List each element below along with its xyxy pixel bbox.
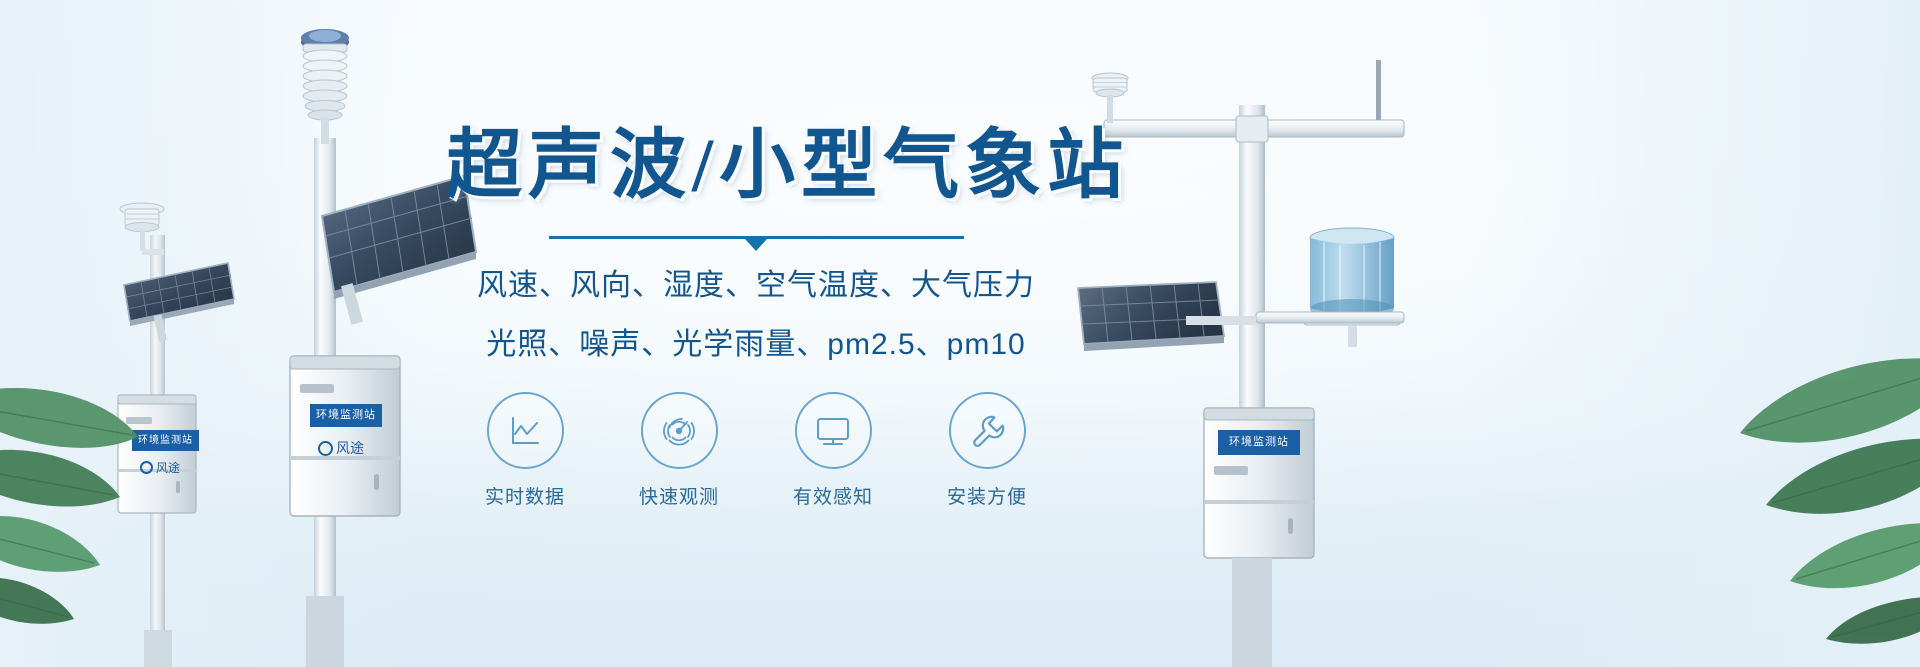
cabinet-label-right: 环境监测站 [1218,430,1300,455]
feature-item-realtime-data[interactable]: 实时数据 [470,392,580,509]
feature-list: 实时数据 快速 [446,392,1066,509]
radar-signal-icon [659,411,699,451]
cabinet-label-center-left: 环境监测站 [310,404,382,427]
feature-label: 快速观测 [624,482,734,509]
page-title: 超声波/小型气象站 [446,118,1066,214]
feature-icon-circle [641,392,718,469]
leaf-decoration-right [1600,347,1920,647]
feature-icon-circle [487,392,564,469]
feature-label: 安装方便 [932,482,1042,509]
leaf-decoration-left [0,367,220,627]
feature-item-effective-sensing[interactable]: 有效感知 [778,392,888,509]
product-banner: 环境监测站 风途 [0,0,1920,667]
feature-icon-circle [949,392,1026,469]
subtitle-line-2: 光照、噪声、光学雨量、pm2.5、pm10 [446,321,1066,368]
feature-label: 实时数据 [470,482,580,509]
monitor-icon [813,412,853,450]
brand-mark-icon [318,441,333,456]
feature-item-easy-installation[interactable]: 安装方便 [932,392,1042,509]
title-divider [549,236,964,250]
feature-icon-circle [795,392,872,469]
subtitle-line-1: 风速、风向、湿度、空气温度、大气压力 [446,262,1066,309]
feature-item-rapid-observation[interactable]: 快速观测 [624,392,734,509]
feature-label: 有效感知 [778,482,888,509]
brand-name-center-left: 风途 [336,438,364,458]
wrench-icon [968,412,1006,450]
divider-triangle-icon [745,239,767,251]
brand-logo-center-left: 风途 [318,438,364,458]
line-chart-icon [506,412,544,450]
banner-content: 超声波/小型气象站 风速、风向、湿度、空气温度、大气压力 光照、噪声、光学雨量、… [446,118,1066,509]
